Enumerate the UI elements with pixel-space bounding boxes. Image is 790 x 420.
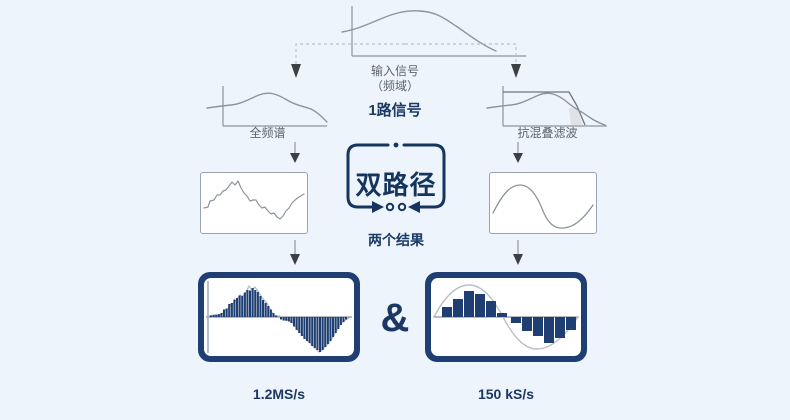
low-rate-panel-inner — [431, 278, 581, 356]
left-arrow-to-result-panel — [288, 240, 302, 266]
low-rate-result-panel — [425, 272, 587, 362]
input-count-label: 1路信号 — [335, 99, 455, 120]
noisy-waveform-box — [200, 172, 308, 234]
right-arrow-to-result-panel — [511, 240, 525, 266]
right-arrow-to-sine-box — [511, 142, 525, 164]
dual-path-title: 双路径 — [342, 165, 450, 202]
top-split-connector — [280, 40, 530, 82]
noisy-waveform-svg — [201, 173, 307, 233]
low-rate-label: 150 kS/s — [425, 386, 587, 402]
high-rate-result-panel — [198, 272, 360, 362]
full-spectrum-svg — [205, 84, 330, 132]
diagram-canvas: 输入信号 （频域） 1路信号 全频谱 — [0, 0, 790, 420]
sine-waveform-box — [489, 172, 597, 234]
antialias-filter-svg — [485, 84, 610, 132]
sine-waveform-svg — [490, 173, 596, 233]
dual-path-subtitle: 两个结果 — [336, 230, 456, 250]
high-rate-label: 1.2MS/s — [198, 386, 360, 402]
antialias-filter-chart — [485, 84, 610, 132]
left-arrow-to-noisy-box — [288, 142, 302, 164]
ampersand-separator: & — [370, 298, 420, 338]
high-rate-sampled-chart — [204, 278, 354, 356]
antialias-filter-caption: 抗混叠滤波 — [485, 126, 610, 141]
low-rate-sampled-chart — [431, 278, 581, 356]
high-rate-panel-inner — [204, 278, 354, 356]
full-spectrum-caption: 全频谱 — [205, 126, 330, 141]
high-rate-bars — [210, 288, 347, 352]
full-spectrum-chart — [205, 84, 330, 132]
